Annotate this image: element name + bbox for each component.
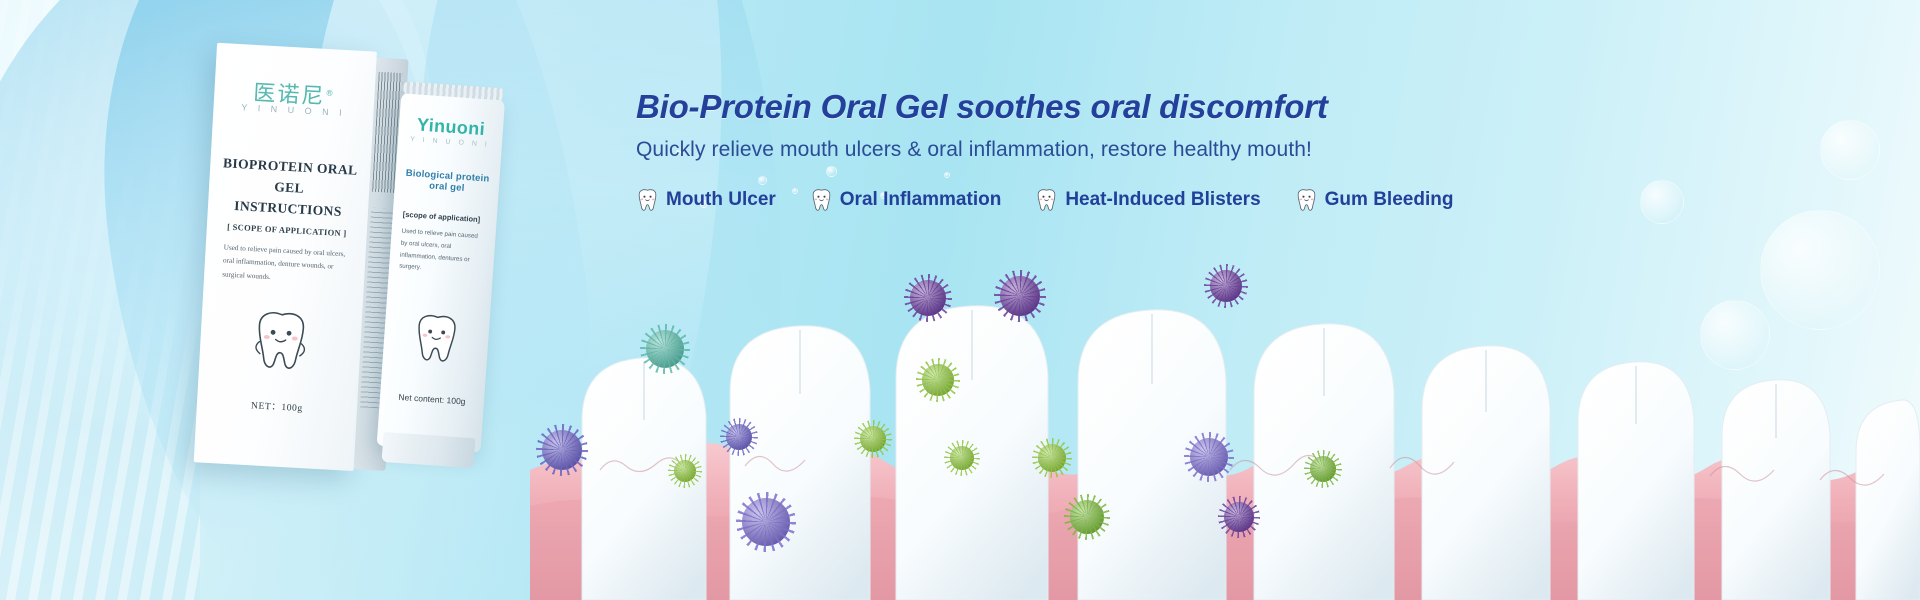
bokeh-circle	[1820, 120, 1880, 180]
box-title: BIOPROTEIN ORAL GEL INSTRUCTIONS	[217, 153, 360, 223]
copy-block: Bio-Protein Oral Gel soothes oral discom…	[636, 88, 1796, 213]
germ-core	[1038, 444, 1066, 472]
page-subtitle: Quickly relieve mouth ulcers & oral infl…	[636, 138, 1796, 162]
feature-list: Mouth Ulcer Oral Inflammation	[636, 188, 1796, 213]
germ-core	[674, 460, 696, 482]
germ-bacteria-icon	[1000, 276, 1040, 316]
germ-bacteria-icon	[950, 446, 974, 470]
page-title: Bio-Protein Oral Gel soothes oral discom…	[636, 88, 1796, 126]
tube-scope-heading: [scope of application]	[403, 210, 487, 225]
tooth-icon	[636, 188, 659, 213]
germ-bacteria-icon	[1224, 502, 1254, 532]
teeth-gums-illustration	[530, 270, 1920, 600]
tooth-icon	[810, 188, 833, 213]
tooth-icon	[1295, 188, 1318, 213]
feature-label: Gum Bleeding	[1325, 189, 1454, 211]
germ-bacteria-icon	[1038, 444, 1066, 472]
germ-core	[726, 424, 752, 450]
germ-core	[922, 364, 954, 396]
tooth-mascot-icon	[412, 311, 460, 368]
germ-bacteria-icon	[922, 364, 954, 396]
germ-core	[1310, 456, 1336, 482]
germ-bacteria-icon	[1310, 456, 1336, 482]
germ-bacteria-icon	[726, 424, 752, 450]
tube-net-content: Net content: 100g	[380, 391, 484, 408]
germ-core	[1210, 270, 1242, 302]
germ-core	[860, 426, 886, 452]
germ-core	[1000, 276, 1040, 316]
promo-banner: 医诺尼® Y I N U O N I BIOPROTEIN ORAL GEL I…	[0, 0, 1920, 600]
germ-core	[910, 280, 946, 316]
germ-bacteria-icon	[1210, 270, 1242, 302]
germ-bacteria-icon	[1070, 500, 1104, 534]
feature-label: Heat-Induced Blisters	[1065, 189, 1260, 211]
feature-label: Mouth Ulcer	[666, 189, 776, 211]
germ-bacteria-icon	[860, 426, 886, 452]
germ-core	[950, 446, 974, 470]
product-tube: Yinuoni Y I N U O N I Biological protein…	[375, 91, 521, 478]
tooth-icon	[1035, 188, 1058, 213]
germ-bacteria-icon	[646, 330, 684, 368]
feature-label: Oral Inflammation	[840, 189, 1002, 211]
germ-core	[1190, 438, 1228, 476]
germ-core	[542, 430, 582, 470]
germ-bacteria-icon	[742, 498, 790, 546]
feature-item-oral-inflammation: Oral Inflammation	[810, 188, 1002, 213]
germ-core	[1070, 500, 1104, 534]
tube-description: Biological protein oral gel	[395, 167, 500, 196]
germ-core	[1224, 502, 1254, 532]
germ-core	[742, 498, 790, 546]
germ-core	[646, 330, 684, 368]
germ-bacteria-icon	[542, 430, 582, 470]
box-scope-heading: [ SCOPE OF APPLICATION ]	[219, 221, 355, 239]
box-body-text: Used to relieve pain caused by oral ulce…	[222, 241, 352, 288]
tube-cap	[382, 432, 476, 468]
feature-item-heat-induced-blisters: Heat-Induced Blisters	[1035, 188, 1260, 213]
registered-mark: ®	[325, 89, 335, 99]
box-net-content: NET：100g	[197, 394, 358, 417]
feature-item-gum-bleeding: Gum Bleeding	[1295, 188, 1454, 213]
germ-bacteria-icon	[910, 280, 946, 316]
feature-item-mouth-ulcer: Mouth Ulcer	[636, 188, 776, 213]
tube-crimp	[403, 81, 504, 100]
background-stripes	[0, 0, 200, 600]
tooth-mascot-icon	[252, 307, 310, 376]
germ-bacteria-icon	[1190, 438, 1228, 476]
tube-body-text: Used to relieve pain caused by oral ulce…	[399, 226, 486, 279]
germ-bacteria-icon	[674, 460, 696, 482]
product-box-front: 医诺尼® Y I N U O N I BIOPROTEIN ORAL GEL I…	[194, 43, 377, 471]
